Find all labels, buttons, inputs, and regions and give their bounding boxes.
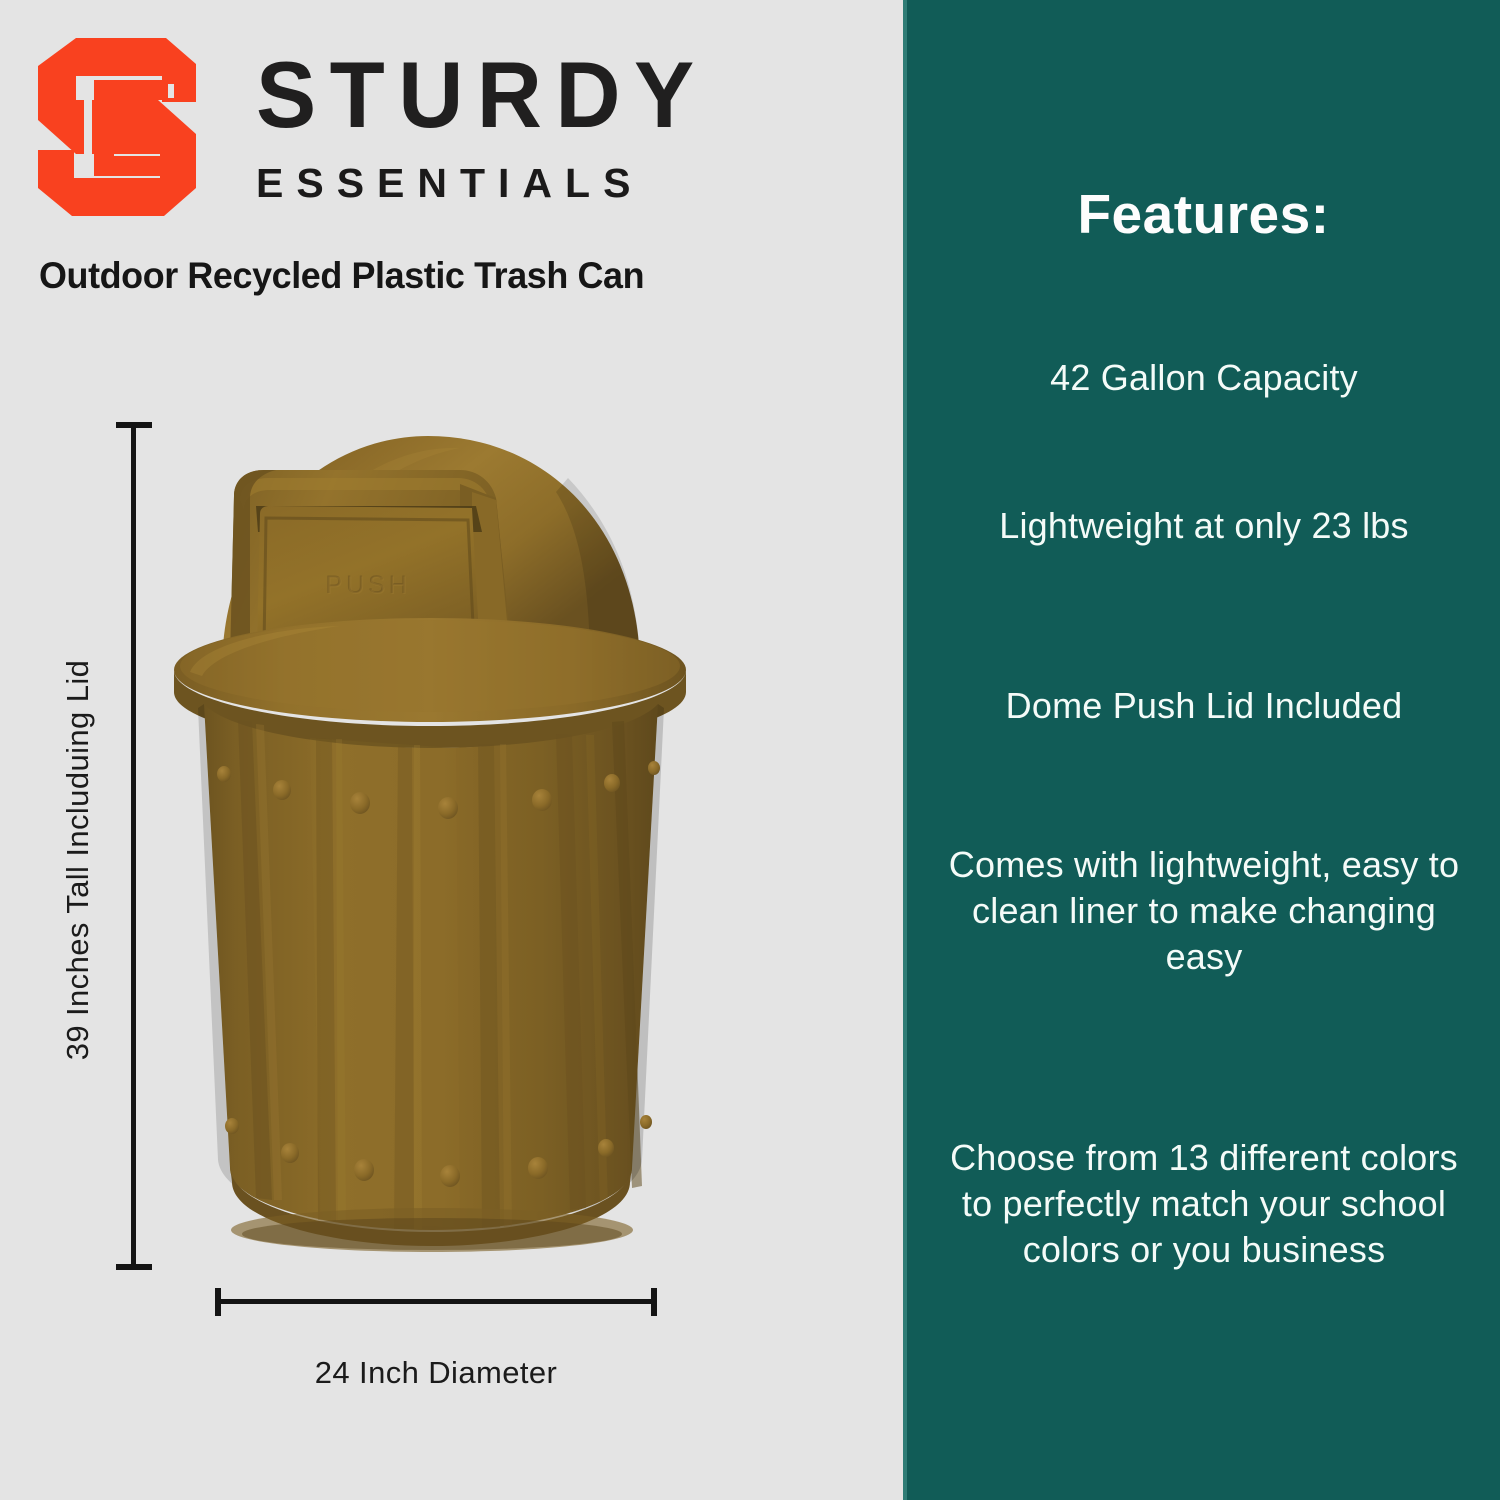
product-panel: STURDY ESSENTIALS Outdoor Recycled Plast… — [0, 0, 903, 1500]
dimension-stem — [215, 1299, 657, 1304]
svg-text:PUSH: PUSH — [326, 572, 411, 600]
features-heading: Features: — [907, 182, 1500, 246]
brand-name-primary: STURDY — [256, 50, 851, 139]
features-panel: Features: 42 Gallon Capacity Lightweight… — [903, 0, 1500, 1500]
dimension-cap-top — [116, 422, 152, 428]
trash-can-illustration: PUSH PUSH — [160, 408, 720, 1270]
sturdy-se-monogram-icon — [38, 38, 196, 216]
infographic-page: STURDY ESSENTIALS Outdoor Recycled Plast… — [0, 0, 1500, 1500]
height-dimension-label: 39 Inches Tall Includuing Lid — [60, 420, 96, 1300]
dimension-cap-bottom — [116, 1264, 152, 1270]
feature-item: Choose from 13 different colors to perfe… — [935, 1135, 1473, 1273]
dimension-stem — [131, 422, 136, 1270]
feature-item: Lightweight at only 23 lbs — [935, 503, 1473, 549]
height-dimension-line: 39 Inches Tall Includuing Lid — [110, 422, 154, 1270]
brand-wordmark: STURDY ESSENTIALS — [256, 50, 876, 204]
dimension-cap-left — [215, 1288, 221, 1316]
brand-logo: STURDY ESSENTIALS — [38, 38, 868, 216]
dimension-cap-right — [651, 1288, 657, 1316]
feature-item: 42 Gallon Capacity — [935, 355, 1473, 401]
brand-name-secondary: ESSENTIALS — [256, 163, 876, 204]
width-dimension-label: 24 Inch Diameter — [215, 1355, 657, 1391]
width-dimension-line — [215, 1285, 657, 1319]
product-title: Outdoor Recycled Plastic Trash Can — [39, 255, 864, 297]
feature-item: Dome Push Lid Included — [935, 683, 1473, 729]
feature-item: Comes with lightweight, easy to clean li… — [935, 842, 1473, 980]
